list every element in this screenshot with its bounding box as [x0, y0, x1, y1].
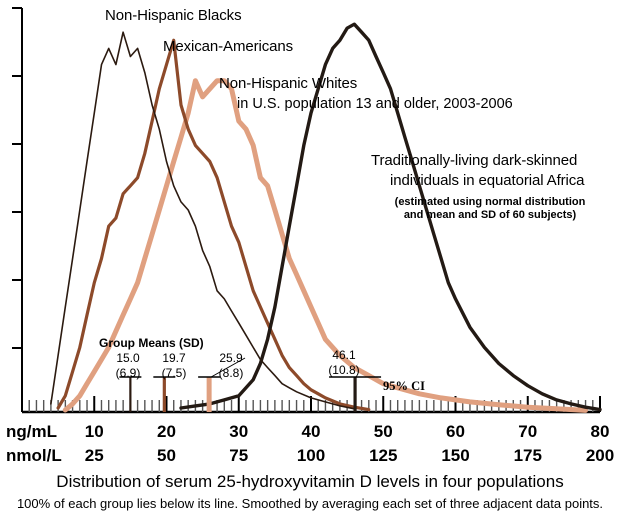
x-tick-label-ngml-30: 30 [209, 422, 269, 442]
series-label-mexican-americans: Mexican-Americans [163, 38, 293, 55]
group-mean-value-africa: 46.1 [321, 348, 367, 363]
x-tick-label-ngml-20: 20 [137, 422, 197, 442]
x-tick-label-ngml-70: 70 [498, 422, 558, 442]
series-label-non-hispanic-whites: Non-Hispanic Whites [219, 75, 357, 92]
confidence-interval-label: 95% CI [383, 379, 425, 394]
x-tick-label-nmoll-175: 175 [498, 446, 558, 466]
x-tick-label-nmoll-75: 75 [209, 446, 269, 466]
group-sd-value-blacks: (6.9) [105, 366, 151, 381]
x-tick-label-ngml-80: 80 [570, 422, 620, 442]
group-sd-value-mexican: (7.5) [151, 366, 197, 381]
chart-title: Distribution of serum 25-hydroxyvitamin … [0, 472, 620, 492]
group-mean-value-mexican: 19.7 [151, 351, 197, 366]
group-mean-value-blacks: 15.0 [105, 351, 151, 366]
us-population-note: in U.S. population 13 and older, 2003-20… [237, 96, 513, 112]
axis-unit-secondary: nmol/L [6, 446, 62, 466]
africa-estimation-note-line2: and mean and SD of 60 subjects) [390, 209, 590, 222]
x-tick-label-nmoll-125: 125 [353, 446, 413, 466]
axis-unit-primary: ng/mL [6, 422, 57, 442]
x-tick-label-ngml-60: 60 [426, 422, 486, 442]
group-sd-value-africa: (10.8) [321, 363, 367, 378]
x-tick-label-ngml-40: 40 [281, 422, 341, 442]
series-label-africa-line2: individuals in equatorial Africa [390, 172, 584, 189]
x-tick-label-nmoll-100: 100 [281, 446, 341, 466]
x-tick-label-nmoll-50: 50 [137, 446, 197, 466]
series-label-non-hispanic-blacks: Non-Hispanic Blacks [105, 7, 241, 24]
africa-estimation-note-line1: (estimated using normal distribution [390, 196, 590, 209]
chart-subtitle: 100% of each group lies below its line. … [0, 496, 620, 511]
x-tick-label-nmoll-200: 200 [570, 446, 620, 466]
x-tick-label-ngml-50: 50 [353, 422, 413, 442]
x-tick-label-nmoll-25: 25 [64, 446, 124, 466]
series-label-africa-line1: Traditionally-living dark-skinned [371, 152, 577, 169]
group-sd-value-whites: (8.8) [208, 366, 254, 381]
group-mean-value-whites: 25.9 [208, 351, 254, 366]
x-tick-label-nmoll-150: 150 [426, 446, 486, 466]
vitamin-d-distribution-chart: Non-Hispanic Blacks Mexican-Americans No… [0, 0, 620, 529]
group-means-header: Group Means (SD) [99, 336, 204, 350]
x-tick-label-ngml-10: 10 [64, 422, 124, 442]
